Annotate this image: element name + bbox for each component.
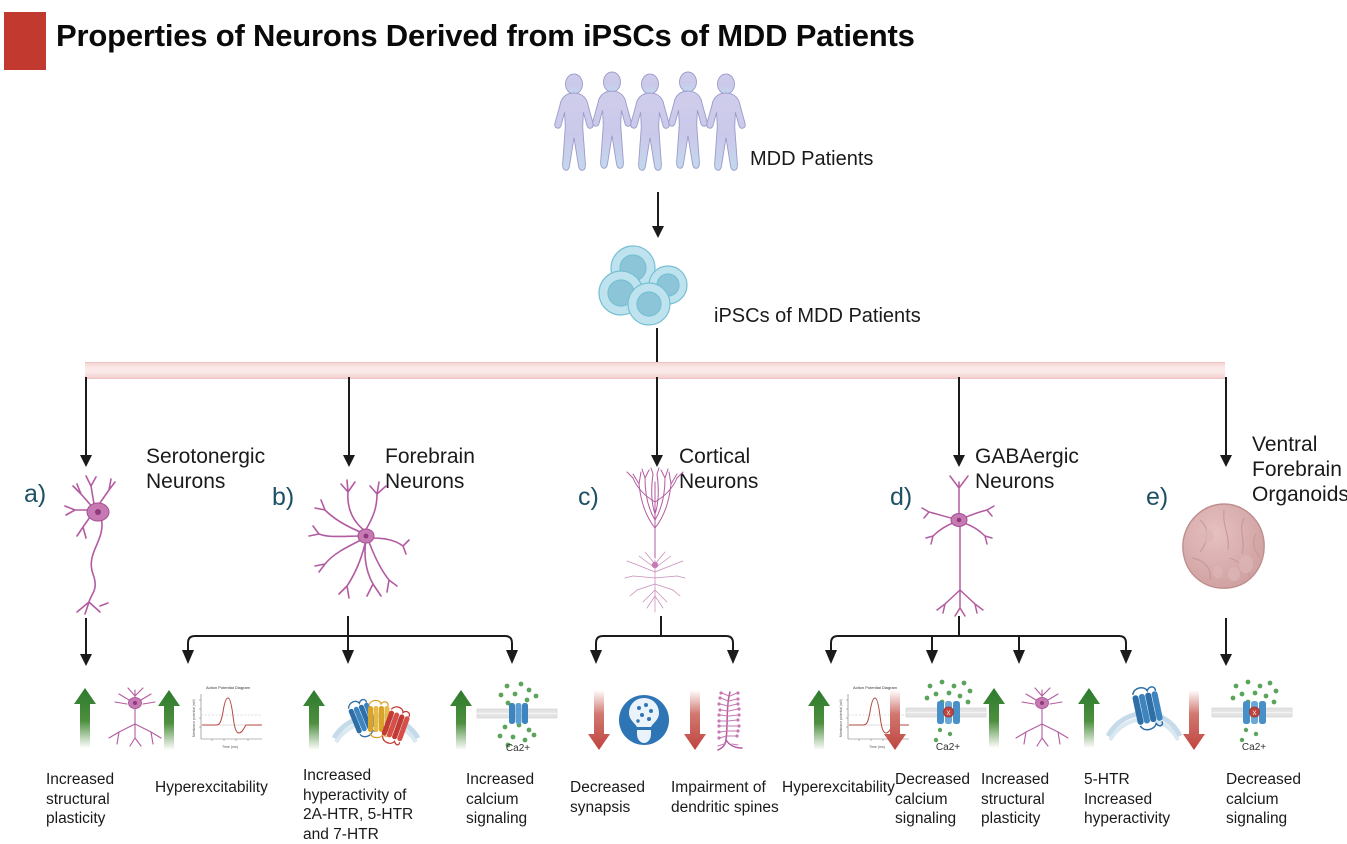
increase-arrow-d1: [808, 690, 830, 750]
ipsc-cluster-icon: [596, 245, 716, 330]
branch-letter-e: e): [1146, 483, 1168, 512]
outcome-arrow-a1: [78, 618, 94, 668]
outcome-arrow-e1: [1218, 618, 1234, 668]
increase-arrow-b2: [303, 690, 325, 750]
outcome-label-a1: Increased structural plasticity: [46, 770, 166, 829]
outcome-label-b3: Increased calcium signaling: [466, 770, 576, 829]
increase-arrow-d4: [1078, 688, 1100, 748]
dendritic-spine-icon: [712, 690, 752, 752]
svg-text:X: X: [1252, 711, 1256, 717]
svg-text:Ca2+: Ca2+: [936, 742, 960, 753]
ipsc-stem-line: [656, 328, 658, 364]
calcium-channel-blocked-icon: X Ca2+: [906, 678, 986, 752]
branch-letter-a: a): [24, 480, 46, 509]
branch-letter-d: d): [890, 483, 912, 512]
outcome-label-d3: Increased structural plasticity: [981, 770, 1091, 829]
branch-name-e: Ventral Forebrain Organoids: [1252, 432, 1347, 507]
increase-arrow-a1: [74, 688, 96, 748]
svg-text:Time (ms): Time (ms): [222, 745, 238, 749]
outcome-label-d1: Hyperexcitability: [782, 778, 907, 798]
outcome-label-e1: Decreased calcium signaling: [1226, 770, 1336, 829]
branch-arrow-a: [78, 377, 94, 469]
svg-text:X: X: [946, 711, 950, 717]
synapse-circle-icon: [618, 694, 670, 746]
increase-arrow-d3: [983, 688, 1005, 748]
action-potential-chart-icon: Action Potential Diagram Membrane potent…: [186, 682, 264, 750]
page-title: Properties of Neurons Derived from iPSCs…: [56, 18, 1056, 54]
branch-arrow-d: [951, 377, 967, 469]
outcome-bracket-d: [800, 616, 1140, 668]
svg-text:Membrane potential (mV): Membrane potential (mV): [839, 699, 843, 737]
decrease-arrow-c2: [684, 690, 706, 750]
decrease-arrow-c1: [588, 690, 610, 750]
calcium-channel-blocked-icon-2: X Ca2+: [1212, 678, 1292, 752]
forebrain-neuron-icon: [303, 478, 421, 608]
decrease-arrow-d2: [884, 690, 906, 750]
branch-arrow-c: [649, 377, 665, 469]
outcome-label-b1: Hyperexcitability: [155, 778, 280, 798]
branch-arrow-e: [1218, 377, 1234, 469]
ipsc-label: iPSCs of MDD Patients: [714, 305, 921, 328]
branch-name-a: Serotonergic Neurons: [146, 444, 265, 494]
svg-text:Time (ms): Time (ms): [869, 745, 885, 749]
branch-letter-c: c): [578, 483, 599, 512]
organoid-icon: [1178, 500, 1270, 592]
increase-arrow-b3: [450, 690, 472, 750]
outcome-label-c1: Decreased synapsis: [570, 778, 680, 817]
svg-text:Action Potential Diagram: Action Potential Diagram: [206, 685, 251, 690]
serotonergic-neuron-icon: [55, 470, 160, 615]
outcome-bracket-b: [180, 616, 520, 668]
diagram-canvas: Properties of Neurons Derived from iPSCs…: [0, 0, 1347, 828]
decrease-arrow-e1: [1183, 690, 1205, 750]
mdd-patients-icon: [552, 70, 757, 190]
svg-text:Ca2+: Ca2+: [506, 743, 530, 754]
neuron-dendrite-icon-2: [1010, 686, 1080, 748]
receptor-trio-icon: [330, 688, 422, 746]
calcium-channel-icon: Ca2+: [477, 680, 557, 752]
svg-text:Ca2+: Ca2+: [1242, 742, 1266, 753]
title-accent-block: [4, 12, 46, 70]
branch-letter-b: b): [272, 483, 294, 512]
outcome-bracket-c: [588, 616, 743, 668]
svg-text:Membrane potential (mV): Membrane potential (mV): [192, 699, 196, 737]
branch-arrow-b: [341, 377, 357, 469]
gabaergic-neuron-icon: [919, 468, 999, 618]
mdd-patients-label: MDD Patients: [750, 148, 873, 171]
receptor-single-icon: [1104, 686, 1184, 744]
arrow-patients-to-ipsc: [650, 192, 666, 240]
outcome-label-b2: Increased hyperactivity of 2A-HTR, 5-HTR…: [303, 766, 438, 844]
increase-arrow-b1: [158, 690, 180, 750]
outcome-label-d4: 5-HTR Increased hyperactivity: [1084, 770, 1204, 829]
cortical-neuron-icon: [613, 468, 698, 613]
